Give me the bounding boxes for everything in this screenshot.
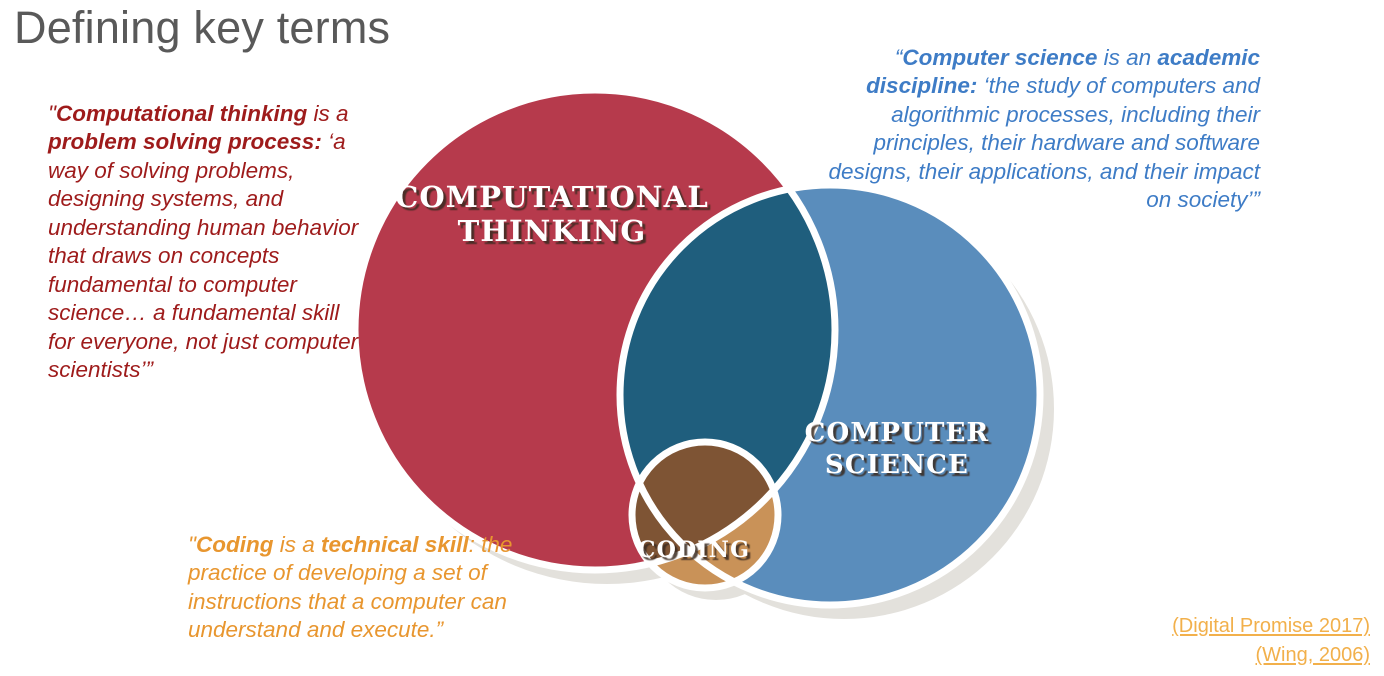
ct-mid: is a xyxy=(307,101,348,126)
cd-mid: is a xyxy=(273,532,321,557)
slide-canvas: Defining key terms xyxy=(0,0,1384,676)
ct-bold-term: Computational thinking xyxy=(56,101,307,126)
cd-bold-term: Coding xyxy=(196,532,273,557)
ct-body: ‘a way of solving problems, designing sy… xyxy=(48,129,358,382)
citation-link-digital-promise[interactable]: (Digital Promise 2017) xyxy=(1172,612,1370,641)
cd-bold-phrase: technical skill xyxy=(321,532,469,557)
cs-bold-term: Computer science xyxy=(902,45,1097,70)
ct-open-quote: " xyxy=(48,101,56,126)
venn-label-coding-line1: CODING xyxy=(638,537,750,563)
cd-open-quote: " xyxy=(188,532,196,557)
callout-coding: "Coding is a technical skill: the practi… xyxy=(188,531,588,645)
venn-label-coding: CODING xyxy=(638,537,750,563)
callout-computer-science: “Computer science is an academic discipl… xyxy=(818,44,1260,215)
venn-label-computer-science-line1: COMPUTER xyxy=(805,418,990,448)
citations: (Digital Promise 2017) (Wing, 2006) xyxy=(1172,612,1370,670)
venn-label-computational-thinking-line2: THINKING xyxy=(458,214,647,248)
ct-bold-phrase: problem solving process: xyxy=(48,129,322,154)
venn-label-computational-thinking-line1: COMPUTATIONAL xyxy=(395,180,709,214)
callout-computational-thinking: "Computational thinking is a problem sol… xyxy=(48,100,360,385)
cs-mid: is an xyxy=(1097,45,1157,70)
citation-link-wing[interactable]: (Wing, 2006) xyxy=(1172,641,1370,670)
venn-label-computer-science-line2: SCIENCE xyxy=(825,450,969,480)
